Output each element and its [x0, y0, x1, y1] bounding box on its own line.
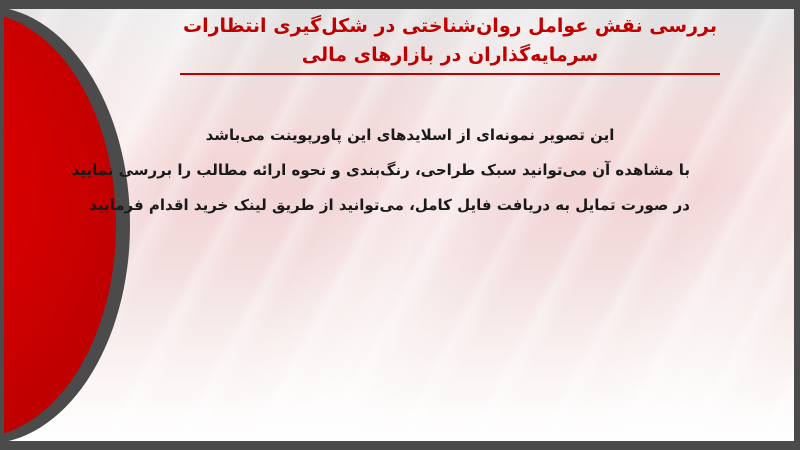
title-underline-rule — [180, 73, 720, 75]
slide-title-line-1: بررسی نقش عوامل روان‌شناختی در شکل‌گیری … — [120, 12, 780, 41]
body-line-3: در صورت تمایل به دریافت فایل کامل، می‌تو… — [130, 188, 690, 223]
frame-border-right — [794, 0, 800, 450]
frame-border-top — [0, 0, 800, 9]
slide-title-line-2: سرمایه‌گذاران در بازارهای مالی — [120, 41, 780, 70]
frame-border-bottom — [0, 441, 800, 450]
slide-body: این تصویر نمونه‌ای از اسلایدهای این پاور… — [130, 118, 690, 223]
presentation-slide: بررسی نقش عوامل روان‌شناختی در شکل‌گیری … — [0, 0, 800, 450]
frame-border-left — [0, 0, 4, 450]
slide-title: بررسی نقش عوامل روان‌شناختی در شکل‌گیری … — [120, 12, 780, 75]
body-line-1: این تصویر نمونه‌ای از اسلایدهای این پاور… — [130, 118, 690, 153]
body-line-2: با مشاهده آن می‌توانید سبک طراحی، رنگ‌بن… — [130, 153, 690, 188]
